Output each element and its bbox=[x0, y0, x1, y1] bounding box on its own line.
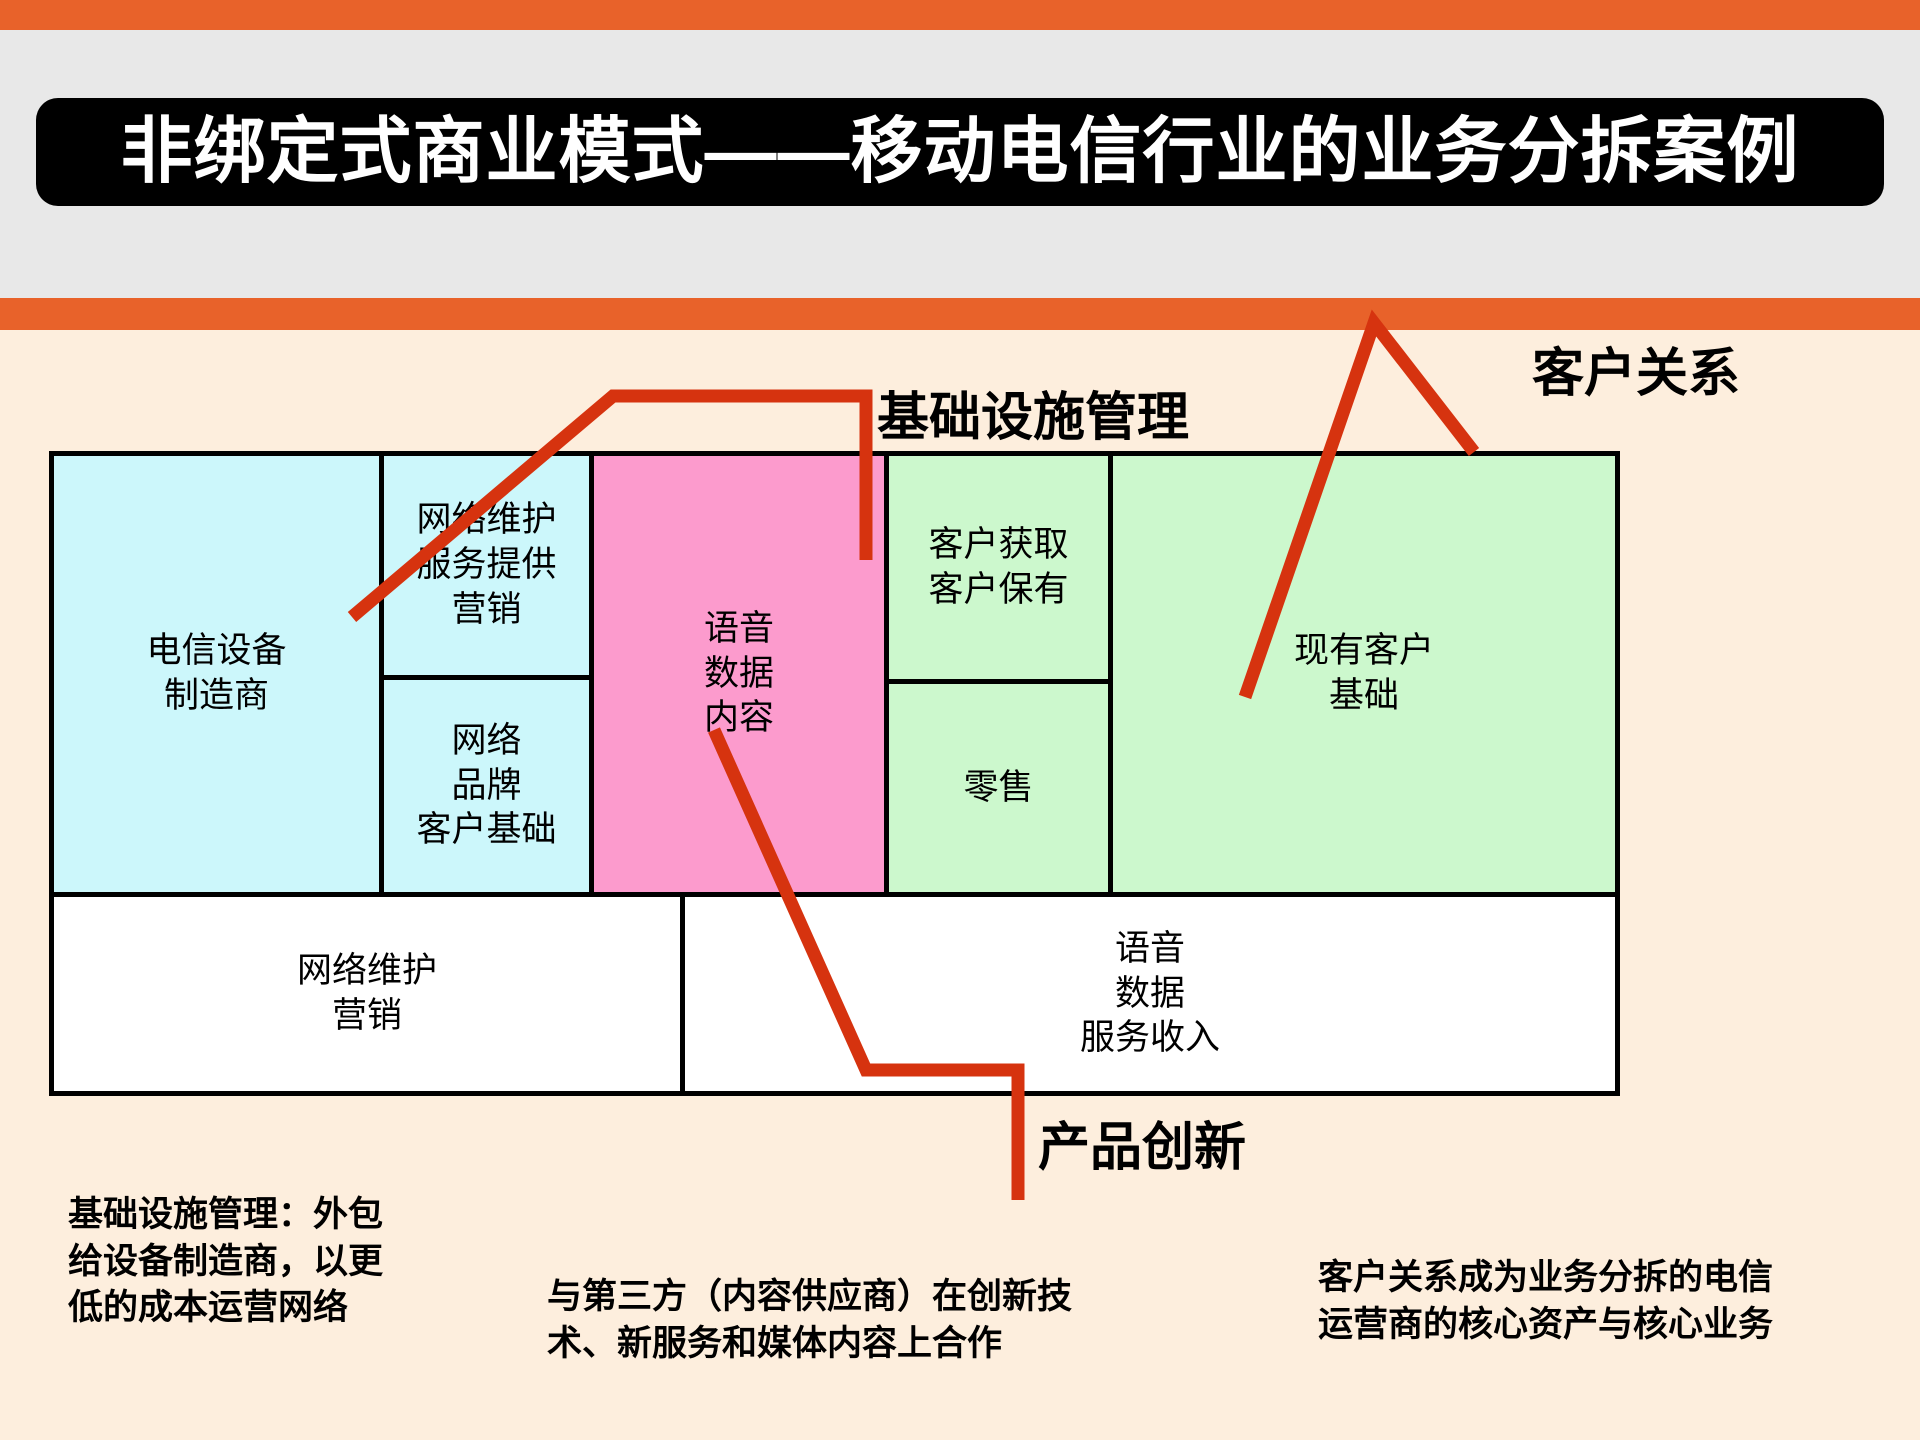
slide-canvas: 非绑定式商业模式——移动电信行业的业务分拆案例 电信设备 制造商 网络维护 服务… bbox=[0, 0, 1920, 1440]
label-customer-relationship-text: 客户关系 bbox=[1532, 345, 1740, 403]
cell-value-proposition[interactable]: 语音 数据 内容 bbox=[594, 456, 889, 897]
cell-revenue-streams[interactable]: 语音 数据 服务收入 bbox=[685, 897, 1615, 1091]
cell-customer-relationships[interactable]: 客户获取 客户保有 bbox=[889, 456, 1113, 684]
caption-product-innovation: 与第三方（内容供应商）在创新技 术、新服务和媒体内容上合作 bbox=[547, 1274, 1207, 1367]
cell-value-proposition-label: 语音 数据 内容 bbox=[704, 607, 774, 741]
cell-channels-label: 零售 bbox=[963, 766, 1033, 811]
cell-revenue-streams-label: 语音 数据 服务收入 bbox=[1080, 927, 1220, 1061]
cell-key-partners-label: 电信设备 制造商 bbox=[146, 629, 286, 719]
header-accent-bar bbox=[0, 298, 1920, 330]
label-infrastructure-management: 基础设施管理 bbox=[877, 392, 1189, 444]
cell-customer-segments[interactable]: 现有客户 基础 bbox=[1113, 456, 1615, 897]
page-title: 非绑定式商业模式——移动电信行业的业务分拆案例 bbox=[120, 116, 1799, 188]
business-model-canvas: 电信设备 制造商 网络维护 服务提供 营销 网络 品牌 客户基础 语音 数据 内… bbox=[49, 451, 1620, 1096]
label-customer-relationship: 客户关系 bbox=[1532, 348, 1740, 400]
label-infrastructure-management-text: 基础设施管理 bbox=[877, 389, 1189, 447]
cell-key-partners[interactable]: 电信设备 制造商 bbox=[54, 456, 384, 897]
cell-customer-relationships-label: 客户获取 客户保有 bbox=[928, 523, 1068, 613]
cell-key-resources-label: 网络 品牌 客户基础 bbox=[416, 719, 556, 853]
cell-channels[interactable]: 零售 bbox=[889, 684, 1113, 897]
cell-key-resources[interactable]: 网络 品牌 客户基础 bbox=[384, 680, 594, 897]
cell-customer-segments-label: 现有客户 基础 bbox=[1294, 629, 1434, 719]
caption-infrastructure: 基础设施管理：外包 给设备制造商，以更 低的成本运营网络 bbox=[68, 1192, 488, 1332]
cell-key-activities[interactable]: 网络维护 服务提供 营销 bbox=[384, 456, 594, 680]
cell-cost-structure[interactable]: 网络维护 营销 bbox=[54, 897, 685, 1091]
cell-cost-structure-label: 网络维护 营销 bbox=[297, 949, 437, 1039]
label-product-innovation-text: 产品创新 bbox=[1038, 1119, 1246, 1177]
label-product-innovation: 产品创新 bbox=[1038, 1122, 1246, 1174]
slide-title-pill: 非绑定式商业模式——移动电信行业的业务分拆案例 bbox=[36, 98, 1884, 206]
caption-customer-relationship: 客户关系成为业务分拆的电信 运营商的核心资产与核心业务 bbox=[1318, 1255, 1918, 1348]
cell-key-activities-label: 网络维护 服务提供 营销 bbox=[416, 498, 556, 632]
top-accent-bar bbox=[0, 0, 1920, 30]
